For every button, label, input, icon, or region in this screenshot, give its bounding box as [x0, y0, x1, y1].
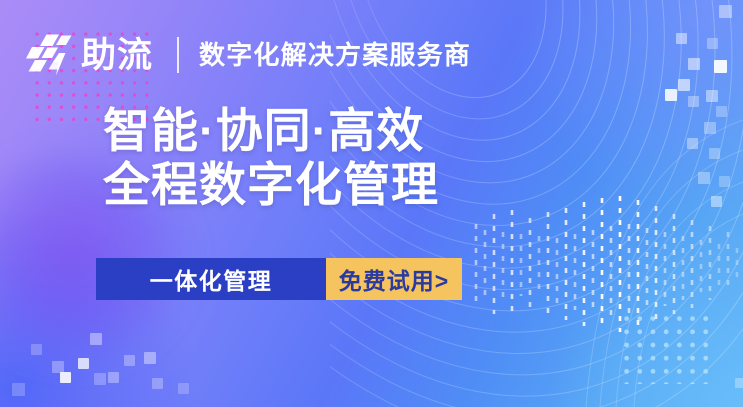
square-decoration: [687, 138, 698, 149]
square-decoration: [698, 172, 710, 184]
square-decoration: [52, 361, 64, 373]
square-decoration: [152, 378, 163, 389]
square-decoration: [78, 358, 89, 369]
brand-tagline: 数字化解决方案服务商: [199, 42, 471, 68]
square-decoration: [144, 352, 156, 364]
headline-line-1: 智能·协同·高效: [103, 104, 439, 158]
square-decoration: [678, 79, 690, 91]
square-decoration: [706, 90, 718, 102]
lightning-bolt-icon: [26, 33, 74, 77]
square-decoration: [707, 38, 718, 49]
free-trial-button[interactable]: 免费试用>: [326, 258, 462, 300]
promo-banner: 助流 数字化解决方案服务商 智能·协同·高效 全程数字化管理 一体化管理 免费试…: [0, 0, 743, 407]
integrated-management-button[interactable]: 一体化管理: [96, 258, 326, 300]
square-decoration: [31, 344, 42, 355]
square-decoration: [714, 60, 727, 73]
square-decoration: [688, 58, 700, 70]
brand-name: 助流: [81, 38, 153, 73]
cyan-dot-grid-decoration: [620, 312, 712, 384]
square-decoration: [90, 333, 102, 345]
headline-line-2: 全程数字化管理: [103, 158, 439, 212]
square-decoration: [665, 89, 677, 101]
square-decoration: [709, 148, 720, 159]
square-decoration: [124, 355, 135, 366]
square-decoration: [60, 372, 71, 383]
square-decoration: [711, 196, 722, 207]
square-decoration: [735, 378, 743, 388]
square-decoration: [676, 33, 687, 44]
square-decoration: [108, 372, 119, 383]
brand-header: 助流 数字化解决方案服务商: [26, 29, 471, 81]
square-decoration: [719, 5, 732, 18]
square-decoration: [704, 122, 716, 134]
square-decoration: [12, 383, 25, 396]
headline: 智能·协同·高效 全程数字化管理: [103, 104, 439, 212]
square-decoration: [178, 383, 189, 394]
square-decoration: [719, 176, 730, 187]
square-decoration: [94, 373, 106, 385]
header-divider: [177, 37, 179, 73]
cta-row: 一体化管理 免费试用>: [96, 258, 462, 300]
square-decoration: [716, 106, 727, 117]
square-decoration: [688, 96, 699, 107]
